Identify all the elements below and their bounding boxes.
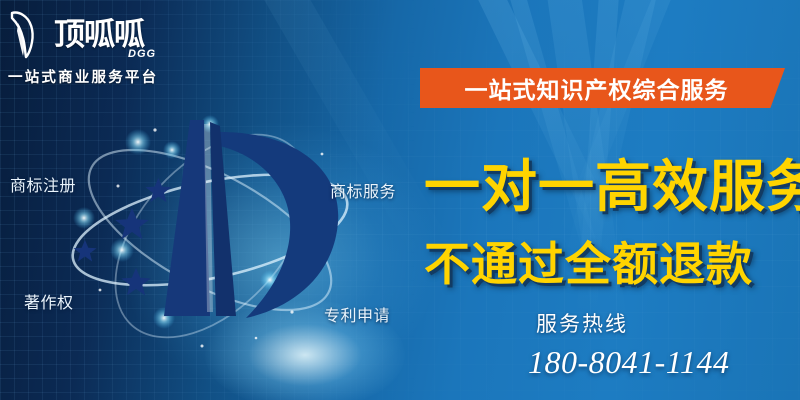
glow-dot <box>163 141 181 159</box>
service-label-copyright[interactable]: 著作权 <box>24 289 74 313</box>
service-label-patent-application[interactable]: 专利申请 <box>324 302 390 326</box>
promo-ribbon-text: 一站式知识产权综合服务 <box>465 71 729 105</box>
brand-name-en: DGG <box>128 48 156 60</box>
hotline-phone-number[interactable]: 180-8041-1144 <box>528 344 729 381</box>
promo-headline-secondary: 不通过全额退款 <box>424 228 753 294</box>
brand-name-cn: 顶呱呱 <box>54 20 144 51</box>
brand-logo[interactable]: 顶呱呱 DGG 一站式商业服务平台 <box>8 8 188 88</box>
promo-ribbon: 一站式知识产权综合服务 <box>420 68 785 108</box>
emblem-spire-right <box>210 122 236 316</box>
promotional-banner: 顶呱呱 DGG 一站式商业服务平台 <box>0 0 800 400</box>
service-label-trademark-service[interactable]: 商标服务 <box>330 178 396 202</box>
emblem-crescent <box>220 132 338 318</box>
glow-dot <box>110 238 134 262</box>
glow-dot <box>73 207 95 229</box>
leaf-swoosh-icon <box>8 9 52 59</box>
star-icon <box>73 178 171 295</box>
patent-p-emblem <box>60 90 370 375</box>
promo-headline-primary: 一对一高效服务 <box>424 142 800 223</box>
service-label-trademark-registration[interactable]: 商标注册 <box>10 172 76 196</box>
hotline-label: 服务热线 <box>536 308 628 338</box>
brand-tagline: 一站式商业服务平台 <box>8 66 188 87</box>
glow-dot <box>125 129 151 155</box>
